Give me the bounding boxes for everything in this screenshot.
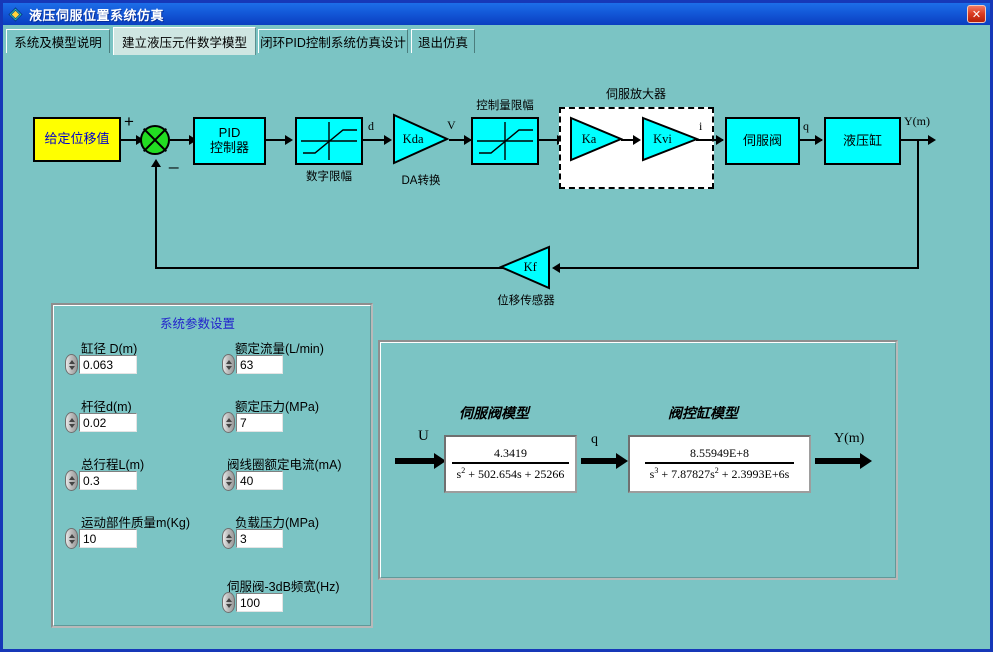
input-bore-diameter[interactable]: 0.063 <box>79 355 137 374</box>
title-servo-valve-model: 伺服阀模型 <box>459 403 529 423</box>
arrow-servo-valve-to-cylinder <box>815 135 823 145</box>
tf-cylinder-den-exp2: 2 <box>715 466 719 475</box>
application-window: 液压伺服位置系统仿真 ✕ 系统及模型说明 建立液压元件数学模型 闭环PID控制系… <box>0 0 993 652</box>
caption-control-limit: 控制量限幅 <box>468 97 542 113</box>
tf-servo-denominator: s2 + 502.654s + 25266 <box>452 464 570 482</box>
block-control-limit[interactable] <box>471 117 539 165</box>
tf-servo-den-rest: + 502.654s + 25266 <box>468 467 564 481</box>
tf-cylinder-den-exp3: 3 <box>654 466 658 475</box>
tab-hydraulic-model[interactable]: 建立液压元件数学模型 <box>113 27 256 55</box>
gain-label-ka: Ka <box>569 116 623 162</box>
arrow-servo-to-cylinder-model <box>581 458 617 464</box>
gain-label-kda: Kda <box>392 113 449 165</box>
pid-label-line1: PID <box>219 126 241 141</box>
caption-displacement-sensor: 位移传感器 <box>497 292 555 308</box>
label-model-signal-q: q <box>591 432 598 448</box>
arrow-head-icon <box>860 453 872 469</box>
summing-junction[interactable] <box>140 125 170 155</box>
label-model-output-y: Y(m) <box>834 431 864 447</box>
arrow-cylinder-model-output <box>815 458 861 464</box>
spinner-up-icon <box>226 598 232 602</box>
block-gain-ka[interactable]: Ka <box>569 116 623 162</box>
spinner-down-icon <box>226 482 232 486</box>
wire-feedback-down <box>917 139 919 269</box>
arrow-amp-to-servo-valve <box>716 135 724 145</box>
title-valve-cylinder-model: 阀控缸模型 <box>668 403 738 423</box>
block-gain-kvi[interactable]: Kvi <box>641 116 699 162</box>
input-rated-flow[interactable]: 63 <box>236 355 283 374</box>
tab-exit-simulation[interactable]: 退出仿真 <box>411 29 475 54</box>
tf-cylinder-denominator: s3 + 7.87827s2 + 2.3993E+6s <box>645 464 795 482</box>
block-digital-limit[interactable] <box>295 117 363 165</box>
spinner-rated-flow[interactable] <box>222 354 235 375</box>
input-total-stroke[interactable]: 0.3 <box>79 471 137 490</box>
spinner-down-icon <box>226 424 232 428</box>
signal-y-output: Y(m) <box>904 114 930 129</box>
arrow-cylinder-output <box>928 135 936 145</box>
signal-d: d <box>368 119 374 134</box>
spinner-valve-coil-current[interactable] <box>222 470 235 491</box>
input-load-pressure[interactable]: 3 <box>236 529 283 548</box>
tf-cylinder-numerator: 8.55949E+8 <box>645 446 795 464</box>
spinner-down-icon <box>69 366 75 370</box>
title-bar: 液压伺服位置系统仿真 ✕ <box>3 3 990 25</box>
spinner-up-icon <box>69 418 75 422</box>
arrow-u-to-servo-model <box>395 458 435 464</box>
spinner-moving-mass[interactable] <box>65 528 78 549</box>
caption-da-convert: DA转换 <box>387 172 455 188</box>
arrow-digital-limit-to-da <box>384 135 392 145</box>
signal-v: V <box>447 118 456 133</box>
spinner-down-icon <box>226 540 232 544</box>
signal-q: q <box>803 119 809 134</box>
spinner-down-icon <box>226 366 232 370</box>
arrow-pid-to-digital-limit <box>285 135 293 145</box>
arrow-head-icon <box>616 453 628 469</box>
spinner-up-icon <box>69 476 75 480</box>
pid-label-line2: 控制器 <box>210 141 249 156</box>
tab-system-description[interactable]: 系统及模型说明 <box>6 29 110 54</box>
spinner-up-icon <box>226 360 232 364</box>
arrow-feedback-into-kf <box>552 263 560 273</box>
input-valve-coil-current[interactable]: 40 <box>236 471 283 490</box>
wire-feedback-right-segment <box>559 267 919 269</box>
tf-cylinder-den-mid: + 7.87827s <box>661 467 714 481</box>
close-button[interactable]: ✕ <box>967 5 986 23</box>
caption-digital-limit: 数字限幅 <box>295 168 363 184</box>
spinner-down-icon <box>226 604 232 608</box>
tf-servo-numerator: 4.3419 <box>452 446 570 464</box>
spinner-load-pressure[interactable] <box>222 528 235 549</box>
block-gain-kf[interactable]: Kf <box>499 245 551 290</box>
block-da-converter[interactable]: Kda <box>392 113 449 165</box>
gain-label-kvi: Kvi <box>641 116 699 162</box>
spinner-bore-diameter[interactable] <box>65 354 78 375</box>
input-rated-pressure[interactable]: 7 <box>236 413 283 432</box>
content-canvas: 给定位移值 + _ PID 控制器 数字限幅 <box>3 55 990 649</box>
arrow-feedback-into-sum <box>151 159 161 167</box>
spinner-total-stroke[interactable] <box>65 470 78 491</box>
input-moving-mass[interactable]: 10 <box>79 529 137 548</box>
wire-feedback-up <box>155 167 157 269</box>
block-pid-controller[interactable]: PID 控制器 <box>193 117 266 165</box>
spinner-up-icon <box>226 534 232 538</box>
spinner-down-icon <box>69 540 75 544</box>
close-icon: ✕ <box>972 9 981 20</box>
arrow-ka-to-kvi <box>633 135 641 145</box>
tf-servo-den-exp: 2 <box>461 466 465 475</box>
spinner-up-icon <box>226 476 232 480</box>
spinner-down-icon <box>69 482 75 486</box>
spinner-down-icon <box>69 424 75 428</box>
tab-strip: 系统及模型说明 建立液压元件数学模型 闭环PID控制系统仿真设计 退出仿真 <box>3 25 990 55</box>
sign-plus: + <box>124 113 134 130</box>
spinner-servo-valve-bandwidth[interactable] <box>222 592 235 613</box>
sign-minus: _ <box>169 151 178 168</box>
tf-cylinder-den-tail: + 2.3993E+6s <box>722 467 790 481</box>
tf-box-servo-valve: 4.3419 s2 + 502.654s + 25266 <box>444 435 577 493</box>
spinner-rated-pressure[interactable] <box>222 412 235 433</box>
input-rod-diameter[interactable]: 0.02 <box>79 413 137 432</box>
input-servo-valve-bandwidth[interactable]: 100 <box>236 593 283 612</box>
block-servo-valve[interactable]: 伺服阀 <box>725 117 800 165</box>
block-hydraulic-cylinder[interactable]: 液压缸 <box>824 117 901 165</box>
label-model-input-u: U <box>418 428 429 445</box>
tab-pid-simulation[interactable]: 闭环PID控制系统仿真设计 <box>258 29 408 54</box>
block-setpoint[interactable]: 给定位移值 <box>33 117 121 162</box>
parameters-panel-title: 系统参数设置 <box>160 313 235 332</box>
spinner-rod-diameter[interactable] <box>65 412 78 433</box>
caption-servo-amplifier: 伺服放大器 <box>591 85 681 102</box>
spinner-up-icon <box>69 360 75 364</box>
window-title: 液压伺服位置系统仿真 <box>29 5 164 24</box>
gain-label-kf: Kf <box>499 245 551 290</box>
wire-feedback-left-segment <box>155 267 503 269</box>
spinner-up-icon <box>69 534 75 538</box>
app-diamond-icon <box>8 7 23 22</box>
spinner-up-icon <box>226 418 232 422</box>
tf-box-valve-cylinder: 8.55949E+8 s3 + 7.87827s2 + 2.3993E+6s <box>628 435 811 493</box>
tf-valve-cylinder: 8.55949E+8 s3 + 7.87827s2 + 2.3993E+6s <box>645 446 795 482</box>
tf-servo-valve: 4.3419 s2 + 502.654s + 25266 <box>452 446 570 482</box>
signal-i: i <box>699 119 702 134</box>
